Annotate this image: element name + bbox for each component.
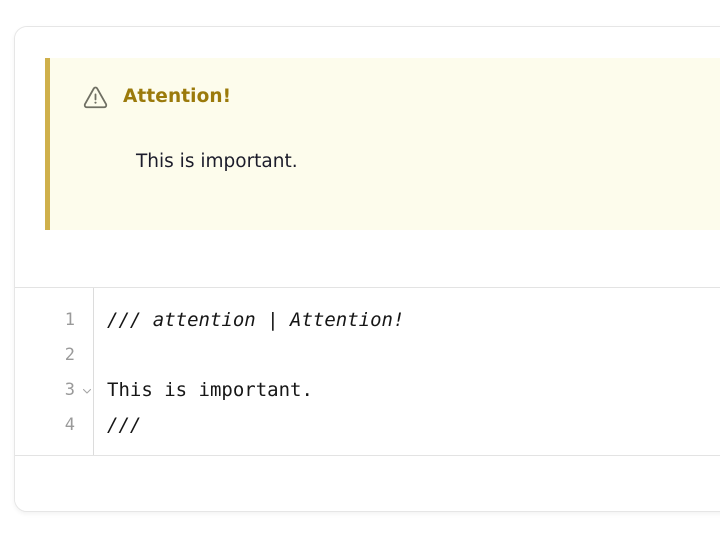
line-number: 2 bbox=[65, 347, 75, 364]
card-footer-area bbox=[15, 456, 720, 511]
code-line-text[interactable]: This is important. bbox=[107, 381, 313, 400]
screenshot-root: Attention! This is important. 1 /// atte… bbox=[0, 0, 720, 544]
admonition-title: Attention! bbox=[123, 88, 231, 107]
admonition-demo-card: Attention! This is important. 1 /// atte… bbox=[14, 26, 720, 512]
warning-triangle-icon bbox=[82, 84, 109, 111]
line-number: 1 bbox=[65, 312, 75, 329]
code-line-list: 1 /// attention | Attention! 2 3 bbox=[15, 303, 720, 443]
code-line-row[interactable]: 3 This is important. bbox=[15, 373, 720, 408]
line-gutter: 3 bbox=[15, 373, 79, 408]
line-gutter: 1 bbox=[15, 303, 79, 338]
source-code-editor[interactable]: 1 /// attention | Attention! 2 3 bbox=[15, 288, 720, 456]
line-gutter: 2 bbox=[15, 338, 79, 373]
attention-admonition: Attention! This is important. bbox=[45, 58, 720, 230]
code-line-text[interactable]: /// attention | Attention! bbox=[107, 311, 404, 330]
line-number: 3 bbox=[65, 382, 75, 399]
code-line-row[interactable]: 1 /// attention | Attention! bbox=[15, 303, 720, 338]
admonition-title-row: Attention! bbox=[82, 83, 231, 111]
line-number: 4 bbox=[65, 417, 75, 434]
admonition-body-text: This is important. bbox=[136, 150, 298, 174]
code-line-text[interactable]: /// bbox=[107, 416, 141, 435]
code-line-row[interactable]: 2 bbox=[15, 338, 720, 373]
rendered-preview-pane: Attention! This is important. bbox=[15, 27, 720, 288]
code-line-row[interactable]: 4 /// bbox=[15, 408, 720, 443]
line-gutter: 4 bbox=[15, 408, 79, 443]
